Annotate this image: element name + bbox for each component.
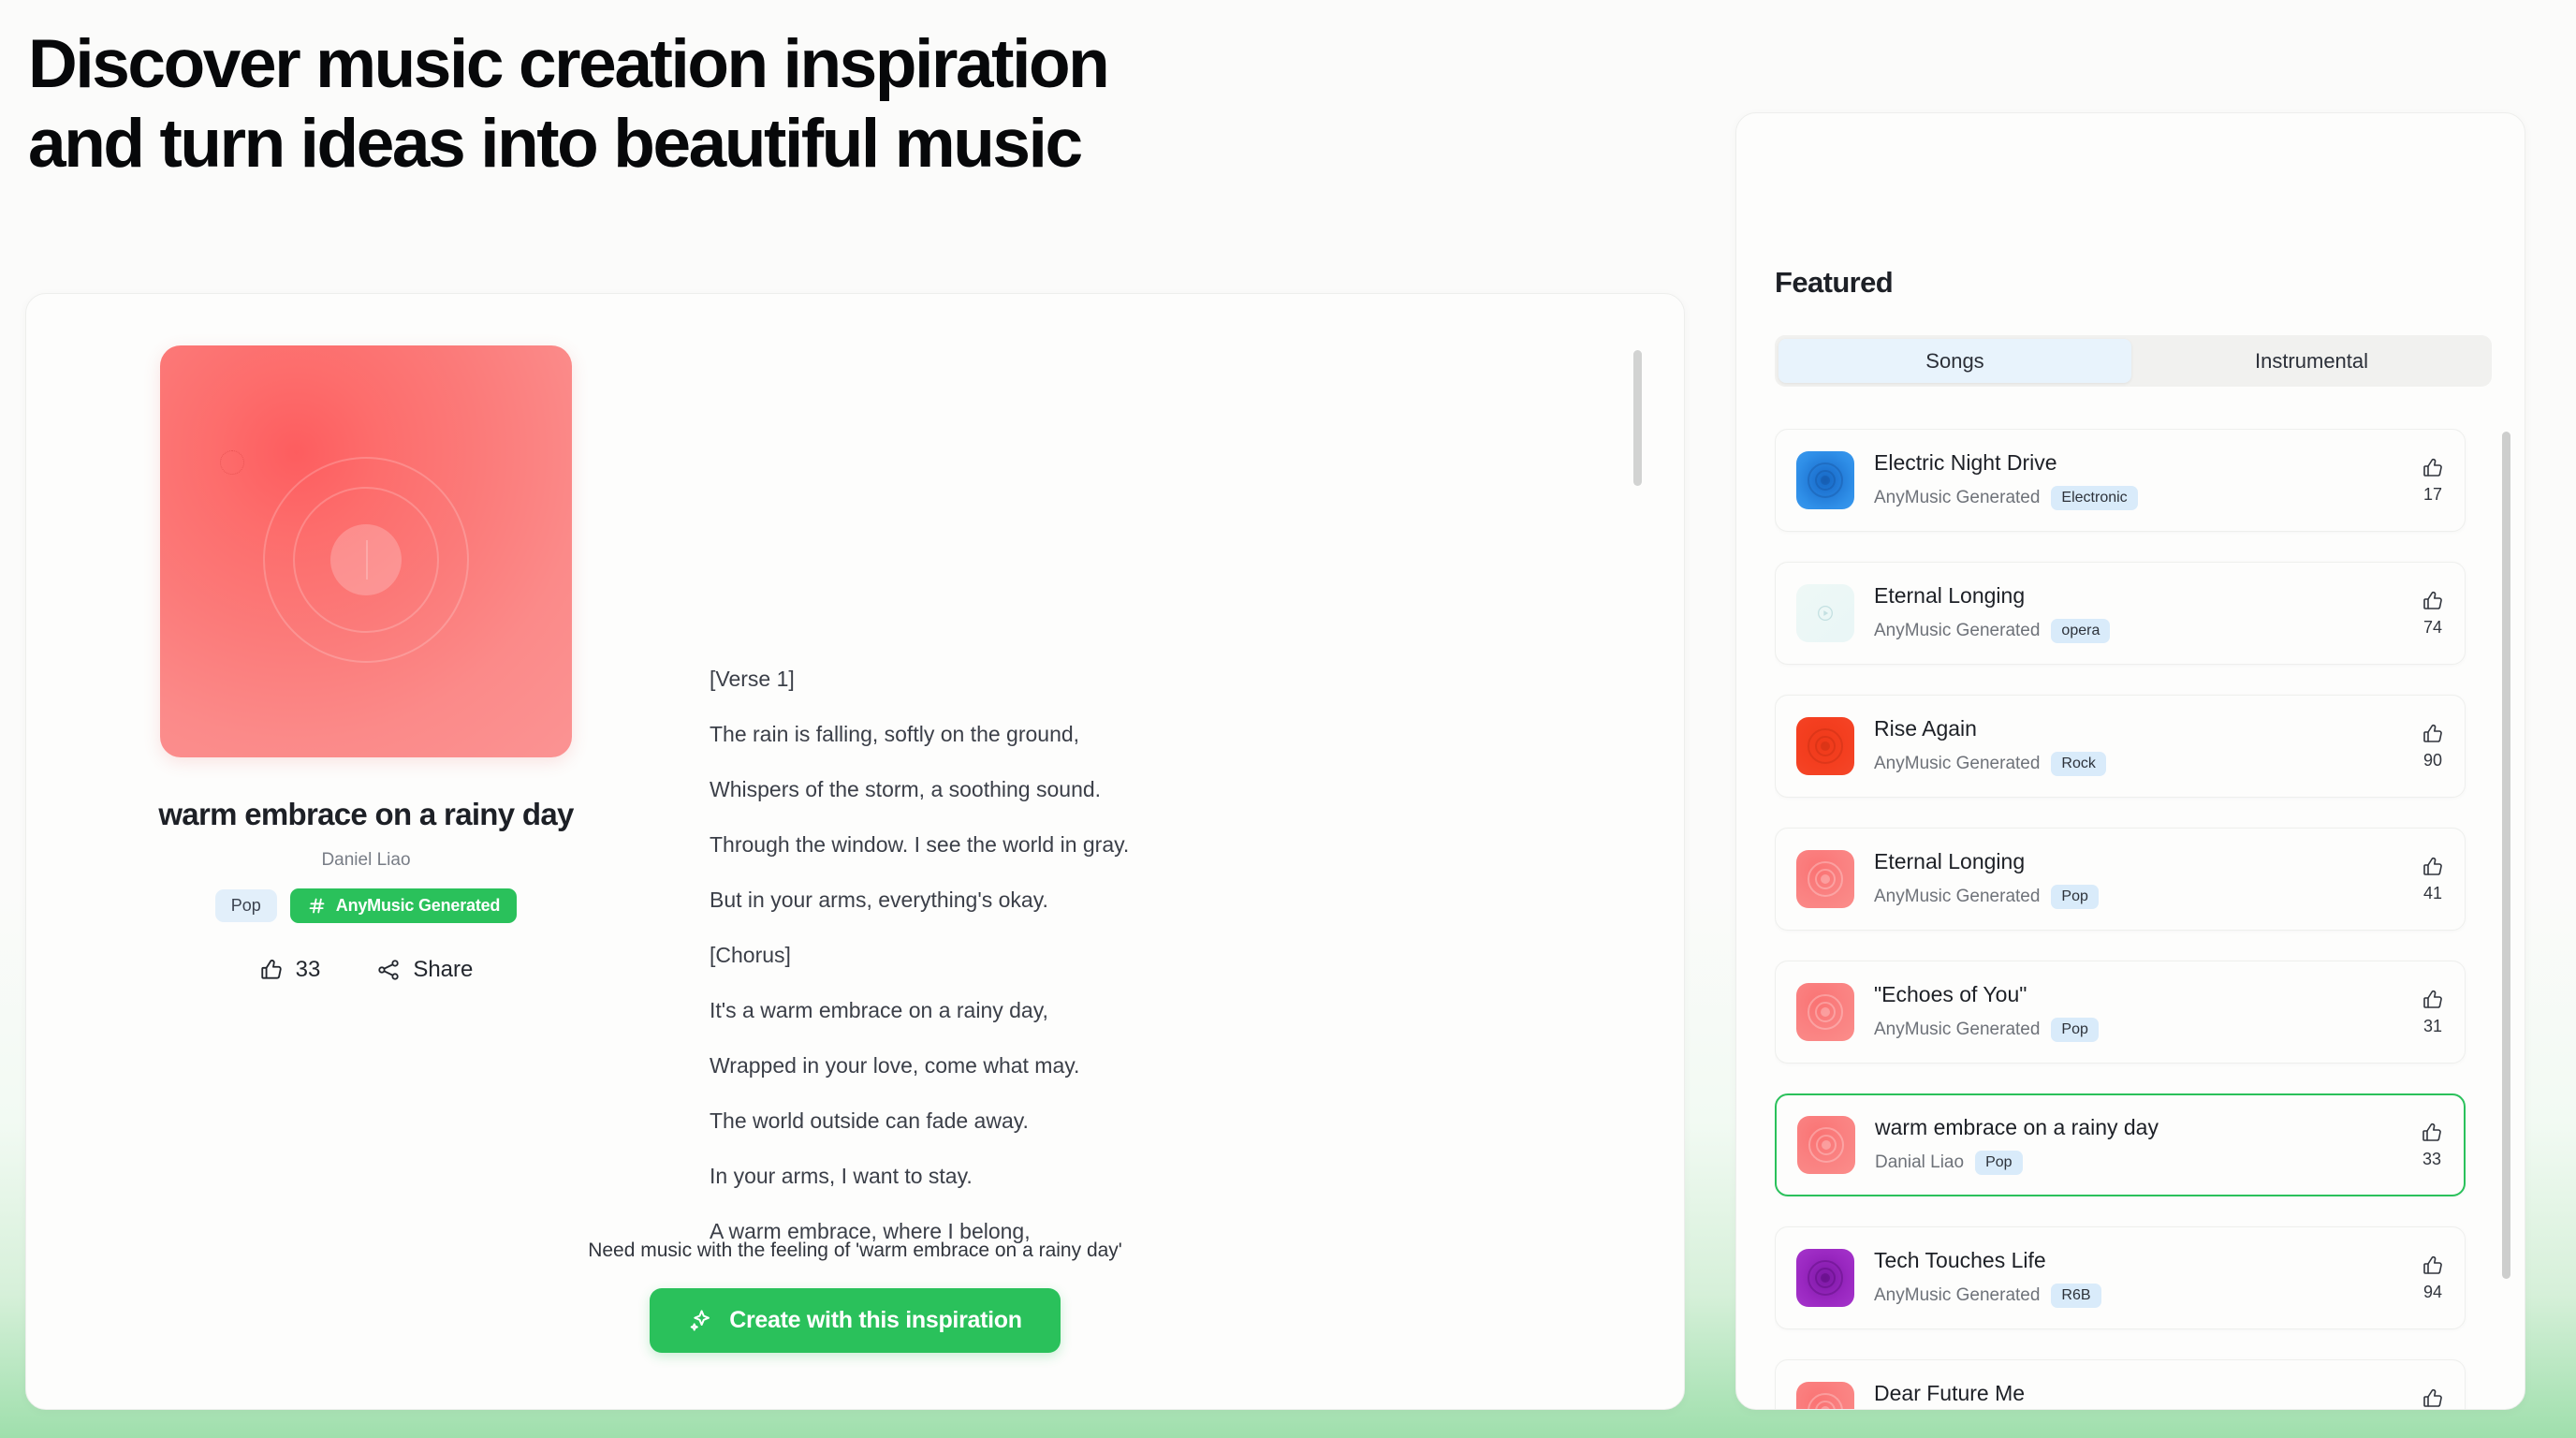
song-row-tag: Pop bbox=[2051, 1018, 2098, 1042]
song-row-artist: AnyMusic Generated bbox=[1874, 621, 2040, 641]
song-thumbnail bbox=[1796, 451, 1854, 509]
lyric-line: [Verse 1] bbox=[710, 668, 1477, 690]
share-label: Share bbox=[413, 957, 473, 983]
song-row-title: Electric Night Drive bbox=[1874, 450, 2410, 476]
song-thumbnail bbox=[1796, 1249, 1854, 1307]
detail-scrollbar[interactable] bbox=[1633, 350, 1642, 486]
heading-line-1: Discover music creation inspiration bbox=[28, 24, 1704, 104]
song-row-subtitle: AnyMusic GeneratedRock bbox=[1874, 752, 2410, 776]
song-row-text: Electric Night DriveAnyMusic GeneratedEl… bbox=[1874, 450, 2410, 510]
tab-instrumental[interactable]: Instrumental bbox=[2135, 339, 2488, 383]
song-row-like-count: 74 bbox=[2423, 618, 2442, 638]
song-row-like[interactable]: 94 bbox=[2422, 1255, 2444, 1302]
song-detail-summary: warm embrace on a rainy day Daniel Liao … bbox=[146, 345, 586, 983]
heading-line-2: and turn ideas into beautiful music bbox=[28, 104, 1704, 183]
create-button-label: Create with this inspiration bbox=[729, 1307, 1021, 1334]
song-row-like[interactable]: 49 bbox=[2422, 1387, 2444, 1411]
lyric-line: In your arms, I want to stay. bbox=[710, 1166, 1477, 1187]
song-row-subtitle: Danial LiaoPop bbox=[1875, 1151, 2409, 1175]
song-row-selected[interactable]: warm embrace on a rainy dayDanial LiaoPo… bbox=[1775, 1093, 2466, 1196]
song-row-like[interactable]: 33 bbox=[2421, 1122, 2443, 1169]
song-row-tag: Pop bbox=[2051, 885, 2098, 909]
sparkle-icon bbox=[688, 1308, 713, 1333]
featured-song-list: Electric Night DriveAnyMusic GeneratedEl… bbox=[1775, 429, 2524, 1410]
lyric-line: The world outside can fade away. bbox=[710, 1110, 1477, 1132]
song-badges: Pop AnyMusic Generated bbox=[146, 888, 586, 923]
song-row-text: Rise AgainAnyMusic GeneratedRock bbox=[1874, 716, 2410, 776]
song-row-subtitle: AnyMusic GeneratedPop bbox=[1874, 885, 2410, 909]
inspiration-cta: Need music with the feeling of 'warm emb… bbox=[26, 1240, 1684, 1353]
lyric-line: The rain is falling, softly on the groun… bbox=[710, 724, 1477, 745]
genre-badge: Pop bbox=[215, 889, 277, 922]
song-title: warm embrace on a rainy day bbox=[146, 797, 586, 832]
song-row-title: Eternal Longing bbox=[1874, 849, 2410, 874]
song-row-title: Dear Future Me bbox=[1874, 1381, 2410, 1406]
song-row-text: Dear Future MeAnyMusic GeneratedPop bbox=[1874, 1381, 2410, 1410]
song-row-like-count: 90 bbox=[2423, 751, 2442, 770]
share-icon bbox=[376, 958, 401, 982]
song-row-like[interactable]: 17 bbox=[2422, 457, 2444, 505]
album-art-dot-cluster bbox=[220, 450, 244, 475]
song-thumbnail bbox=[1796, 983, 1854, 1041]
song-row-like-count: 33 bbox=[2422, 1150, 2441, 1169]
cta-hint-text: Need music with the feeling of 'warm emb… bbox=[26, 1240, 1684, 1262]
thumbs-up-icon bbox=[2422, 457, 2444, 479]
song-row[interactable]: Eternal LongingAnyMusic Generatedopera74 bbox=[1775, 562, 2466, 665]
song-row-text: "Echoes of You"AnyMusic GeneratedPop bbox=[1874, 982, 2410, 1042]
song-row-like-count: 94 bbox=[2423, 1283, 2442, 1302]
lyric-line: But in your arms, everything's okay. bbox=[710, 889, 1477, 911]
song-row-subtitle: AnyMusic GeneratedR6B bbox=[1874, 1284, 2410, 1308]
song-row-artist: Danial Liao bbox=[1875, 1152, 1964, 1173]
song-row-like-count: 31 bbox=[2423, 1017, 2442, 1036]
song-row-subtitle: AnyMusic GeneratedPop bbox=[1874, 1018, 2410, 1042]
song-row[interactable]: Eternal LongingAnyMusic GeneratedPop41 bbox=[1775, 828, 2466, 931]
song-row-subtitle: AnyMusic Generatedopera bbox=[1874, 619, 2410, 643]
song-row-title: Eternal Longing bbox=[1874, 583, 2410, 609]
thumbs-up-icon bbox=[2422, 590, 2444, 612]
song-row-like[interactable]: 90 bbox=[2422, 723, 2444, 770]
song-row-like[interactable]: 74 bbox=[2422, 590, 2444, 638]
song-row-title: warm embrace on a rainy day bbox=[1875, 1115, 2409, 1140]
song-row[interactable]: Tech Touches LifeAnyMusic GeneratedR6B94 bbox=[1775, 1226, 2466, 1329]
song-row-artist: AnyMusic Generated bbox=[1874, 754, 2040, 774]
featured-tabs: Songs Instrumental bbox=[1775, 335, 2492, 387]
lyric-line: [Chorus] bbox=[710, 945, 1477, 966]
song-row-text: Eternal LongingAnyMusic GeneratedPop bbox=[1874, 849, 2410, 909]
song-row-artist: AnyMusic Generated bbox=[1874, 1020, 2040, 1040]
share-button[interactable]: Share bbox=[376, 957, 473, 983]
featured-title: Featured bbox=[1775, 266, 1893, 300]
thumbs-up-icon bbox=[2422, 1255, 2444, 1277]
thumbs-up-icon bbox=[2422, 856, 2444, 878]
song-row-artist: AnyMusic Generated bbox=[1874, 887, 2040, 907]
song-row-title: Tech Touches Life bbox=[1874, 1248, 2410, 1273]
song-row-tag: R6B bbox=[2051, 1284, 2100, 1308]
like-count: 33 bbox=[296, 957, 321, 983]
song-row-tag: Electronic bbox=[2051, 486, 2137, 510]
song-row-text: Eternal LongingAnyMusic Generatedopera bbox=[1874, 583, 2410, 643]
hash-icon bbox=[307, 896, 327, 916]
like-button[interactable]: 33 bbox=[259, 957, 321, 983]
song-row-tag: Pop bbox=[1975, 1151, 2022, 1175]
thumbs-up-icon bbox=[2422, 723, 2444, 745]
page-heading: Discover music creation inspiration and … bbox=[28, 24, 1704, 184]
lyric-line: Wrapped in your love, come what may. bbox=[710, 1055, 1477, 1077]
song-row-like[interactable]: 41 bbox=[2422, 856, 2444, 903]
thumbs-up-icon bbox=[2422, 1387, 2444, 1410]
song-artist: Daniel Liao bbox=[146, 850, 586, 871]
song-row-text: warm embrace on a rainy dayDanial LiaoPo… bbox=[1875, 1115, 2409, 1175]
featured-scrollbar[interactable] bbox=[2502, 432, 2510, 1279]
song-row-like[interactable]: 31 bbox=[2422, 989, 2444, 1036]
song-row-text: Tech Touches LifeAnyMusic GeneratedR6B bbox=[1874, 1248, 2410, 1308]
lyric-line: It's a warm embrace on a rainy day, bbox=[710, 1000, 1477, 1021]
song-row-like-count: 41 bbox=[2423, 884, 2442, 903]
anymusic-generated-badge: AnyMusic Generated bbox=[290, 888, 517, 923]
lyric-line: Whispers of the storm, a soothing sound. bbox=[710, 779, 1477, 800]
song-row[interactable]: Electric Night DriveAnyMusic GeneratedEl… bbox=[1775, 429, 2466, 532]
song-detail-card: warm embrace on a rainy day Daniel Liao … bbox=[25, 293, 1685, 1410]
tab-songs[interactable]: Songs bbox=[1778, 339, 2131, 383]
song-row-artist: AnyMusic Generated bbox=[1874, 1285, 2040, 1306]
album-art bbox=[160, 345, 572, 757]
lyrics-panel: [Verse 1] The rain is falling, softly on… bbox=[710, 668, 1477, 1276]
song-thumbnail bbox=[1797, 1116, 1855, 1174]
create-with-inspiration-button[interactable]: Create with this inspiration bbox=[650, 1288, 1060, 1353]
featured-panel: Featured Songs Instrumental Electric Nig… bbox=[1735, 112, 2525, 1410]
song-row-tag: Rock bbox=[2051, 752, 2105, 776]
song-thumbnail bbox=[1796, 1382, 1854, 1410]
thumbs-up-icon bbox=[2422, 989, 2444, 1011]
song-row-tag: opera bbox=[2051, 619, 2110, 643]
song-thumbnail bbox=[1796, 584, 1854, 642]
album-art-core bbox=[330, 524, 402, 595]
song-thumbnail bbox=[1796, 850, 1854, 908]
lyric-line: Through the window. I see the world in g… bbox=[710, 834, 1477, 856]
thumbs-up-icon bbox=[2421, 1122, 2443, 1144]
song-row[interactable]: "Echoes of You"AnyMusic GeneratedPop31 bbox=[1775, 961, 2466, 1064]
song-row-title: "Echoes of You" bbox=[1874, 982, 2410, 1007]
song-actions: 33 Share bbox=[146, 957, 586, 983]
song-row[interactable]: Dear Future MeAnyMusic GeneratedPop49 bbox=[1775, 1359, 2466, 1410]
anymusic-generated-label: AnyMusic Generated bbox=[336, 896, 500, 916]
song-row-like-count: 17 bbox=[2423, 485, 2442, 505]
song-row-artist: AnyMusic Generated bbox=[1874, 488, 2040, 508]
song-thumbnail bbox=[1796, 717, 1854, 775]
song-row-subtitle: AnyMusic GeneratedElectronic bbox=[1874, 486, 2410, 510]
song-row-title: Rise Again bbox=[1874, 716, 2410, 741]
song-row[interactable]: Rise AgainAnyMusic GeneratedRock90 bbox=[1775, 695, 2466, 798]
thumbs-up-icon bbox=[259, 958, 284, 982]
